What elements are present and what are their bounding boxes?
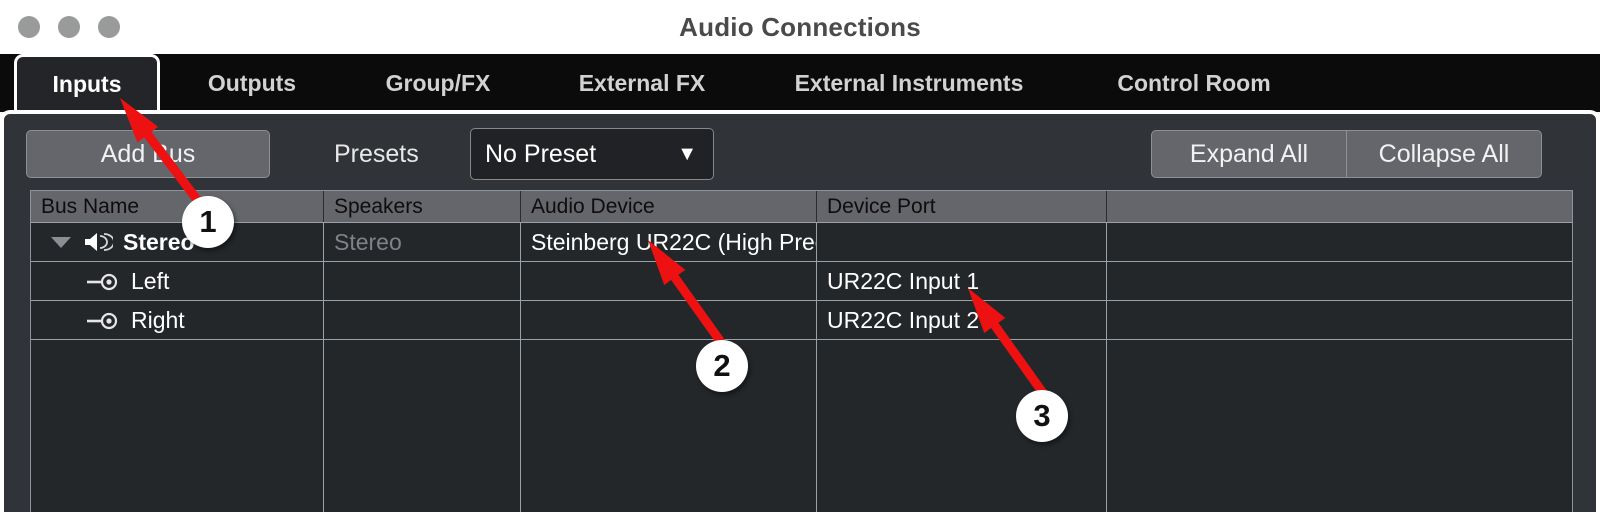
collapse-all-button[interactable]: Collapse All [1346,130,1542,178]
speakers-cell[interactable] [324,262,521,300]
speakers-cell[interactable] [324,301,521,339]
column-header-speakers[interactable]: Speakers [324,191,521,222]
callout-badge-2: 2 [696,340,748,392]
audio-connections-window: Audio Connections InputsOutputsGroup/FXE… [0,0,1600,512]
add-bus-button[interactable]: Add Bus [26,130,270,178]
table-row[interactable]: LeftUR22C Input 1 [31,262,1572,301]
tab-outputs[interactable]: Outputs [176,54,328,112]
tab-strip: InputsOutputsGroup/FXExternal FXExternal… [0,54,1600,112]
inputs-panel: Add Bus Presets No Preset ▼ Expand All C… [0,110,1600,512]
bus-table: Bus NameSpeakersAudio DeviceDevice Port … [30,190,1573,512]
device-port-cell[interactable]: UR22C Input 1 [817,262,1107,300]
audio-device-cell[interactable] [521,262,817,300]
device-port-cell[interactable]: UR22C Input 2 [817,301,1107,339]
bus-name-label: Left [131,268,169,295]
extra-cell[interactable] [1107,262,1572,300]
window-titlebar: Audio Connections [0,0,1600,54]
extra-cell[interactable] [1107,223,1572,261]
bus-name-cell[interactable]: Right [31,301,324,339]
empty-cell [1107,340,1572,512]
audio-device-cell[interactable] [521,301,817,339]
tab-group-fx[interactable]: Group/FX [356,54,520,112]
bus-name-label: Right [131,307,185,334]
audio-device-cell[interactable]: Steinberg UR22C (High Precis [521,223,817,261]
plug-icon [85,310,119,330]
preset-select[interactable]: No Preset ▼ [470,128,714,180]
bus-name-cell[interactable]: Left [31,262,324,300]
preset-select-value: No Preset [485,140,596,169]
disclosure-triangle-icon[interactable] [51,237,71,248]
callout-badge-3: 3 [1016,390,1068,442]
column-header-bus-name[interactable]: Bus Name [31,191,324,222]
table-header-row: Bus NameSpeakersAudio DeviceDevice Port [31,191,1572,223]
table-empty-area [31,340,1572,512]
empty-cell [324,340,521,512]
table-row[interactable]: RightUR22C Input 2 [31,301,1572,340]
bus-name-cell[interactable]: Stereo [31,223,324,261]
empty-cell [31,340,324,512]
chevron-down-icon: ▼ [677,143,697,166]
table-body: StereoStereoSteinberg UR22C (High Precis… [31,223,1572,340]
plug-icon [85,271,119,291]
panel-toolbar: Add Bus Presets No Preset ▼ Expand All C… [4,122,1596,178]
tab-external-fx[interactable]: External FX [548,54,736,112]
column-header-blank[interactable] [1107,191,1572,222]
table-row[interactable]: StereoStereoSteinberg UR22C (High Precis [31,223,1572,262]
tab-control-room[interactable]: Control Room [1086,54,1302,112]
extra-cell[interactable] [1107,301,1572,339]
tab-external-instruments[interactable]: External Instruments [764,54,1054,112]
expand-all-button[interactable]: Expand All [1151,130,1347,178]
tab-inputs[interactable]: Inputs [14,54,160,112]
speaker-icon [83,231,113,253]
empty-cell [521,340,817,512]
speakers-cell[interactable]: Stereo [324,223,521,261]
column-header-device-port[interactable]: Device Port [817,191,1107,222]
presets-label: Presets [334,130,419,178]
window-title: Audio Connections [0,12,1600,43]
callout-badge-1: 1 [182,196,234,248]
device-port-cell[interactable] [817,223,1107,261]
column-header-audio-device[interactable]: Audio Device [521,191,817,222]
